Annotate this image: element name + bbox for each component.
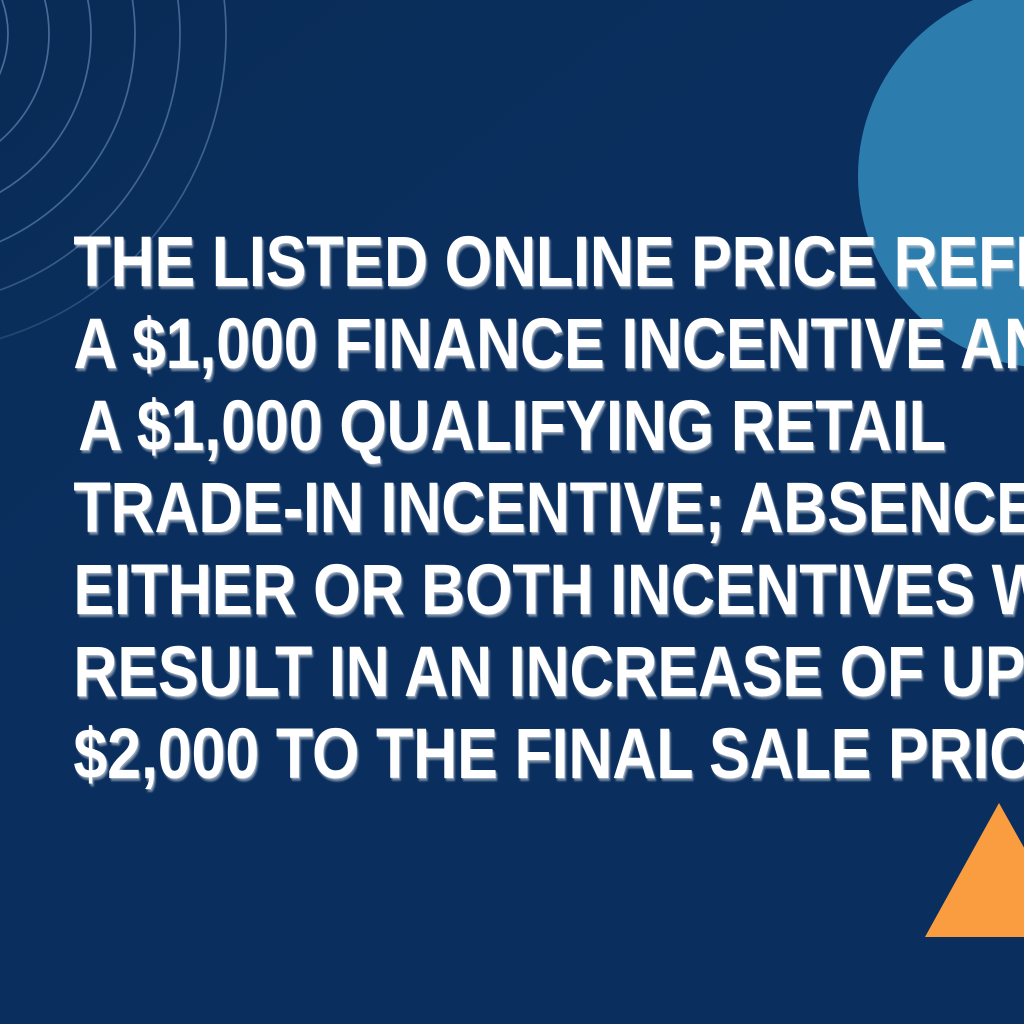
headline-line-2: A $1,000 FINANCE INCENTIVE AND [73, 304, 950, 386]
headline-line-7: $2,000 TO THE FINAL SALE PRICE. [73, 714, 950, 796]
disclaimer-graphic-canvas: THE LISTED ONLINE PRICE REFLECTS A $1,00… [0, 0, 1024, 1024]
headline-line-1: THE LISTED ONLINE PRICE REFLECTS [73, 222, 950, 304]
disclaimer-headline: THE LISTED ONLINE PRICE REFLECTS A $1,00… [0, 222, 1024, 796]
headline-line-3: A $1,000 QUALIFYING RETAIL [73, 386, 950, 468]
headline-line-5: EITHER OR BOTH INCENTIVES WILL [73, 550, 950, 632]
headline-line-6: RESULT IN AN INCREASE OF UP TO [73, 632, 950, 714]
headline-line-4: TRADE-IN INCENTIVE; ABSENCE OF [73, 468, 950, 550]
